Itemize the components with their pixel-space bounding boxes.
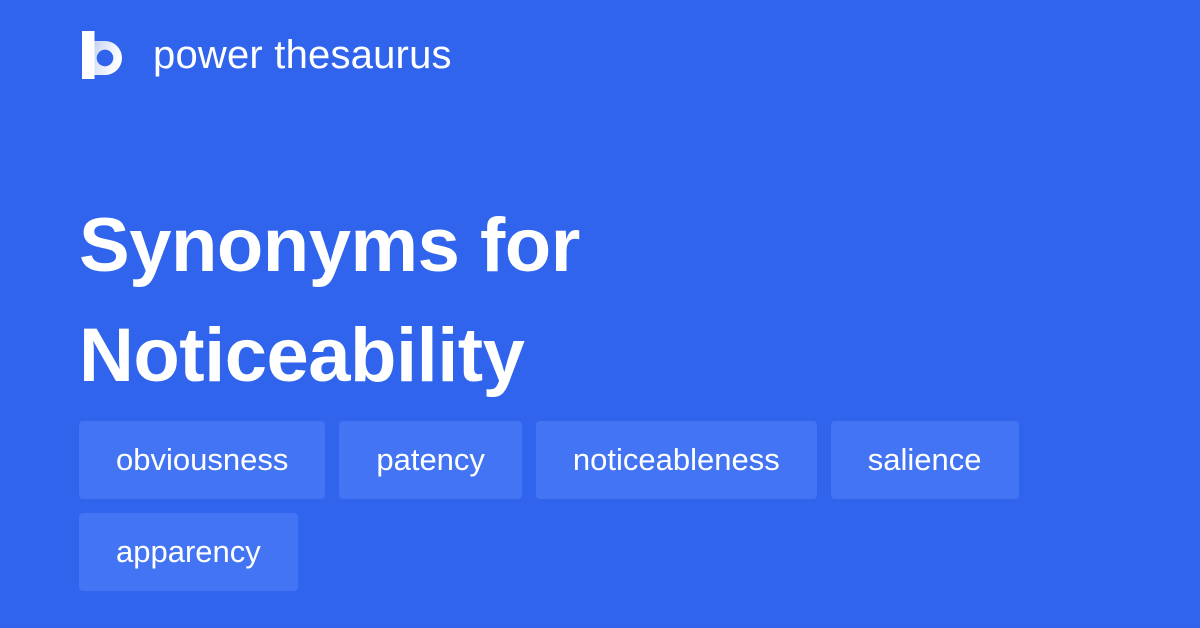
synonym-chip[interactable]: obviousness <box>79 421 325 499</box>
synonym-chip[interactable]: patency <box>339 421 522 499</box>
synonym-chip[interactable]: noticeableness <box>536 421 817 499</box>
page-title-line-1: Synonyms for <box>79 191 1119 301</box>
page-title-line-2: Noticeability <box>79 301 1119 411</box>
brand-header[interactable]: power thesaurus <box>79 25 452 85</box>
page-title: Synonyms for Noticeability <box>79 191 1119 411</box>
brand-name: power thesaurus <box>153 33 452 77</box>
synonym-list: obviousness patency noticeableness salie… <box>79 421 1124 591</box>
power-thesaurus-b-logo-icon <box>79 29 131 81</box>
synonym-chip[interactable]: apparency <box>79 513 298 591</box>
synonym-chip[interactable]: salience <box>831 421 1019 499</box>
synonym-card: power thesaurus Synonyms for Noticeabili… <box>0 0 1200 628</box>
